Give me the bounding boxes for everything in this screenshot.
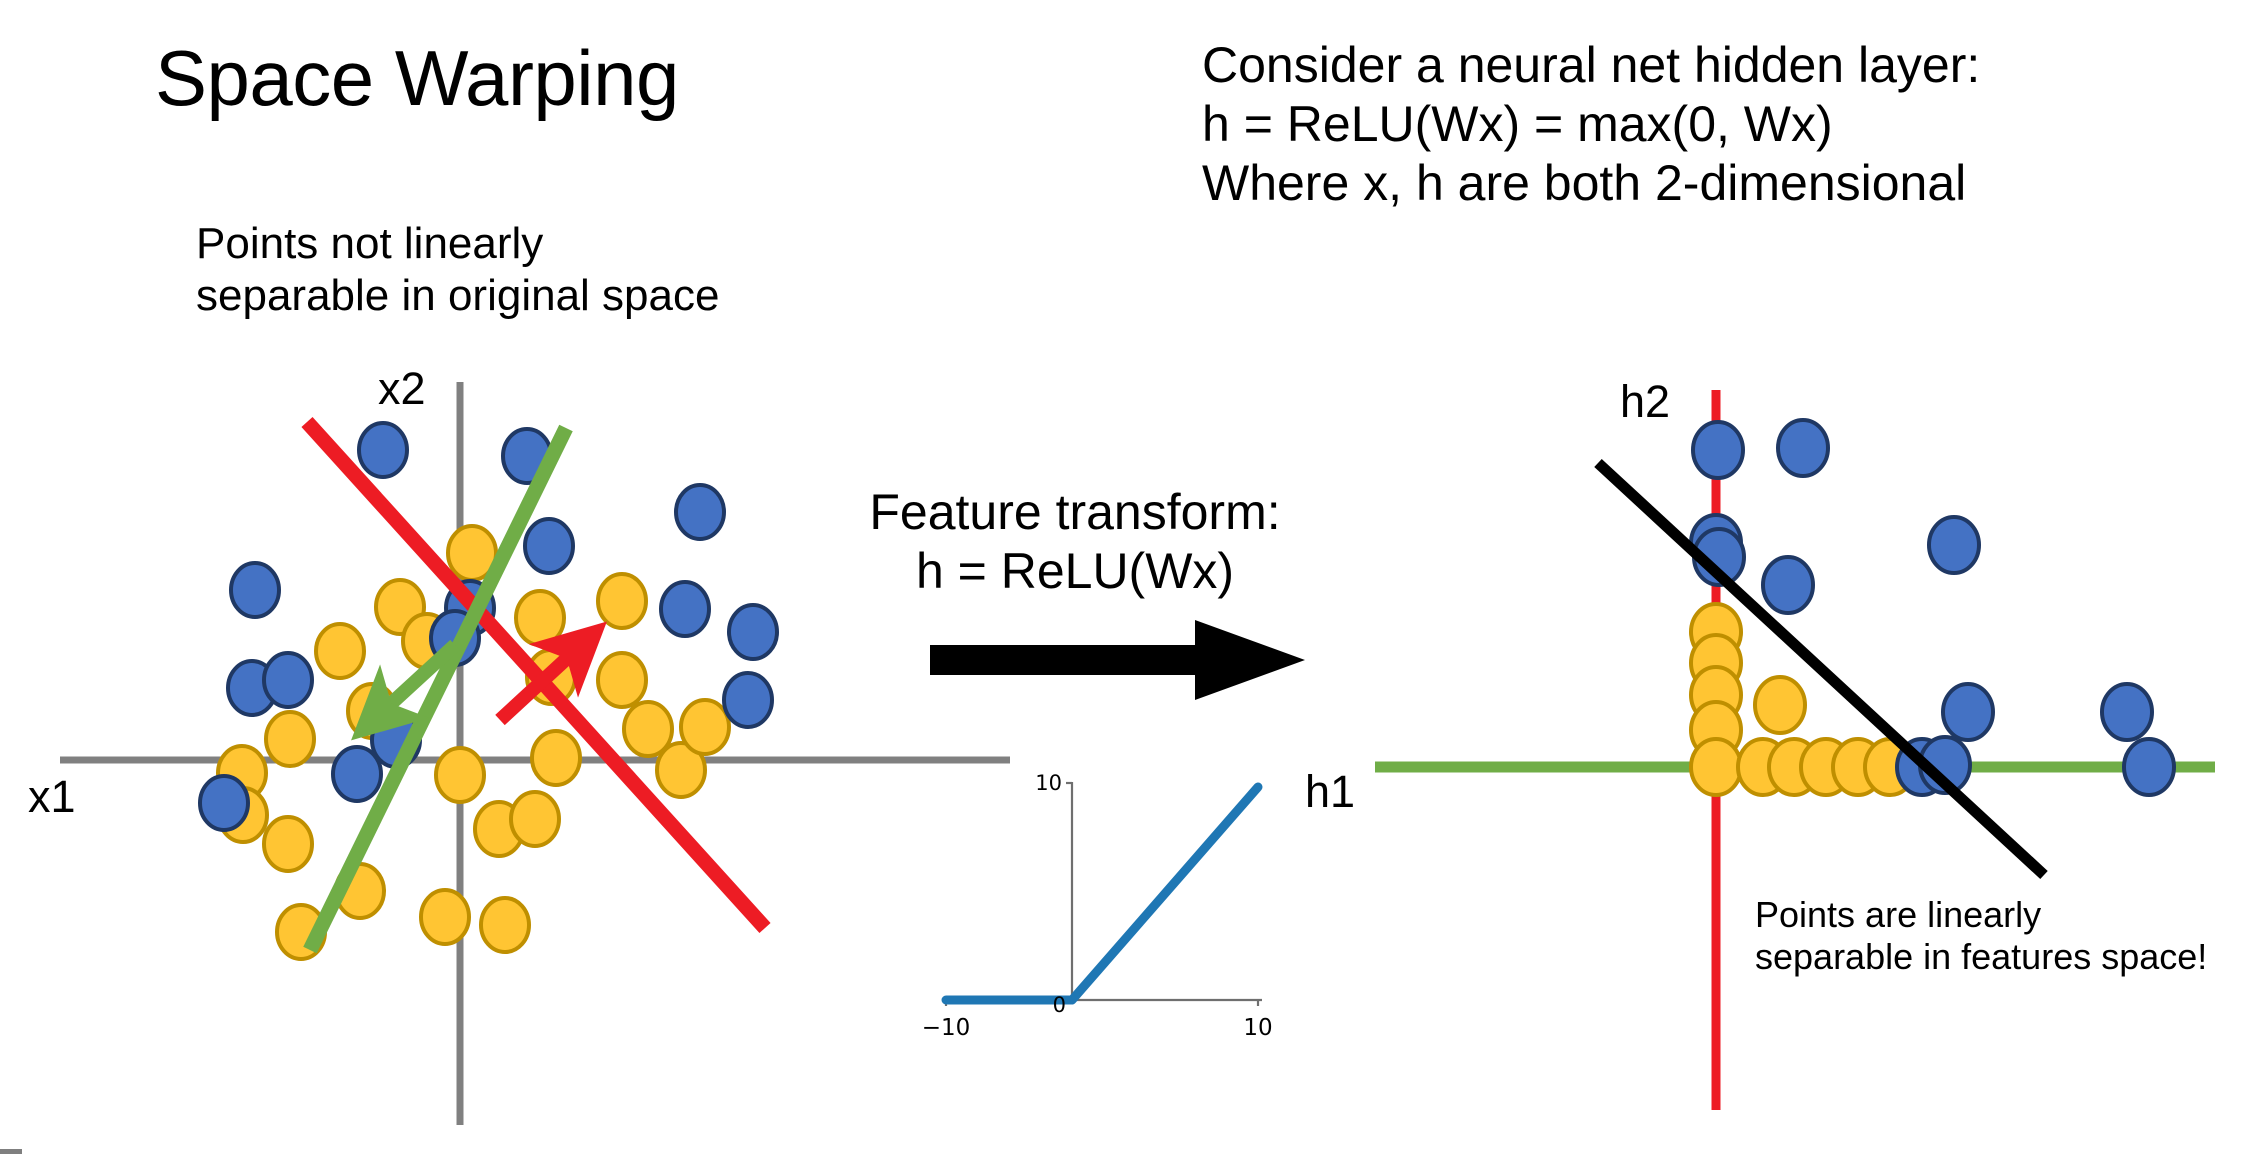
yellow-circle-marker [376, 580, 424, 634]
blue-circle-marker [333, 747, 381, 801]
blue-circle-marker [661, 582, 709, 636]
blue-circle-marker [200, 776, 248, 830]
yellow-circle-marker [336, 864, 384, 918]
blue-circle-marker [2124, 739, 2174, 795]
yellow-circle-marker [1755, 677, 1805, 733]
yellow-circle-marker [598, 653, 646, 707]
blue-circle-marker [431, 611, 479, 665]
yellow-circle-marker [1865, 739, 1915, 795]
blue-circle-marker [446, 581, 494, 635]
relu-mini-plot: 10 0 −10 10 [922, 771, 1273, 1041]
yellow-circle-marker [598, 574, 646, 628]
page-title: Space Warping [155, 32, 679, 124]
red-boundary-line [307, 422, 765, 928]
blue-circle-marker [1943, 684, 1993, 740]
yellow-circle-marker [436, 748, 484, 802]
yellow-circle-marker [1801, 739, 1851, 795]
blue-circle-marker [1694, 529, 1744, 585]
right-header-text: Consider a neural net hidden layer: h = … [1202, 36, 1980, 213]
blue-circle-marker [228, 661, 276, 715]
blue-circle-marker [1897, 739, 1947, 795]
yellow-circle-marker [1833, 739, 1883, 795]
yellow-circle-marker [264, 817, 312, 871]
blue-circle-marker [1691, 515, 1741, 571]
axis-label-x1: x1 [28, 770, 76, 823]
blue-circle-marker [264, 653, 312, 707]
yellow-circle-marker [1769, 739, 1819, 795]
bottom-left-strip [0, 1149, 22, 1154]
left-plot-points [200, 423, 777, 959]
yellow-circle-marker [218, 746, 266, 800]
relu-x-tick-left: −10 [922, 1015, 971, 1041]
right-caption: Points are linearly separable in feature… [1755, 894, 2207, 979]
relu-curve [946, 787, 1258, 1000]
yellow-circle-marker [1691, 604, 1741, 660]
yellow-circle-marker [1691, 635, 1741, 691]
yellow-circle-marker [681, 700, 729, 754]
yellow-circle-marker [266, 712, 314, 766]
black-decision-boundary [1598, 463, 2044, 875]
blue-circle-marker [372, 713, 420, 767]
yellow-circle-marker [527, 650, 575, 704]
yellow-circle-marker [1691, 739, 1741, 795]
yellow-circle-marker [516, 591, 564, 645]
blue-circle-marker [1920, 737, 1970, 793]
yellow-circle-marker [219, 788, 267, 842]
green-boundary-line [310, 428, 566, 950]
yellow-circle-marker [1691, 667, 1741, 723]
yellow-circle-marker [1691, 702, 1741, 758]
yellow-circle-marker [403, 614, 451, 668]
blue-circle-marker [1929, 517, 1979, 573]
axis-label-h2: h2 [1620, 375, 1670, 428]
blue-circle-marker [359, 423, 407, 477]
relu-x-tick-right: 10 [1243, 1015, 1272, 1041]
blue-circle-marker [729, 605, 777, 659]
relu-origin-label: 0 [1053, 993, 1066, 1017]
blue-circle-marker [724, 673, 772, 727]
slide-canvas: Space Warping Points not linearly separa… [0, 0, 2252, 1154]
yellow-circle-marker [1738, 739, 1788, 795]
yellow-circle-marker [511, 792, 559, 846]
relu-y-tick-label: 10 [1035, 771, 1062, 795]
yellow-circle-marker [448, 526, 496, 580]
yellow-circle-marker [481, 898, 529, 952]
red-boundary-arrow [500, 650, 576, 720]
yellow-circle-marker [348, 684, 396, 738]
left-plot-boundaries [307, 422, 765, 950]
right-plot-axes [1375, 390, 2215, 1110]
yellow-circle-marker [475, 802, 523, 856]
blue-circle-marker [676, 485, 724, 539]
yellow-circle-marker [316, 624, 364, 678]
green-boundary-arrow [382, 645, 455, 712]
transform-arrow-icon [930, 620, 1305, 700]
transform-caption: Feature transform: h = ReLU(Wx) [850, 483, 1300, 601]
axis-label-x2: x2 [378, 362, 426, 415]
right-plot-points [1691, 420, 2174, 795]
yellow-circle-marker [657, 743, 705, 797]
blue-circle-marker [1763, 557, 1813, 613]
left-caption: Points not linearly separable in origina… [196, 218, 719, 322]
blue-circle-marker [1693, 422, 1743, 478]
yellow-circle-marker [532, 731, 580, 785]
blue-circle-marker [503, 429, 551, 483]
yellow-circle-marker [624, 702, 672, 756]
blue-circle-marker [2102, 684, 2152, 740]
yellow-circle-marker [421, 890, 469, 944]
blue-circle-marker [231, 563, 279, 617]
blue-circle-marker [1778, 420, 1828, 476]
yellow-circle-marker [277, 905, 325, 959]
blue-circle-marker [525, 519, 573, 573]
axis-label-h1: h1 [1305, 765, 1355, 818]
